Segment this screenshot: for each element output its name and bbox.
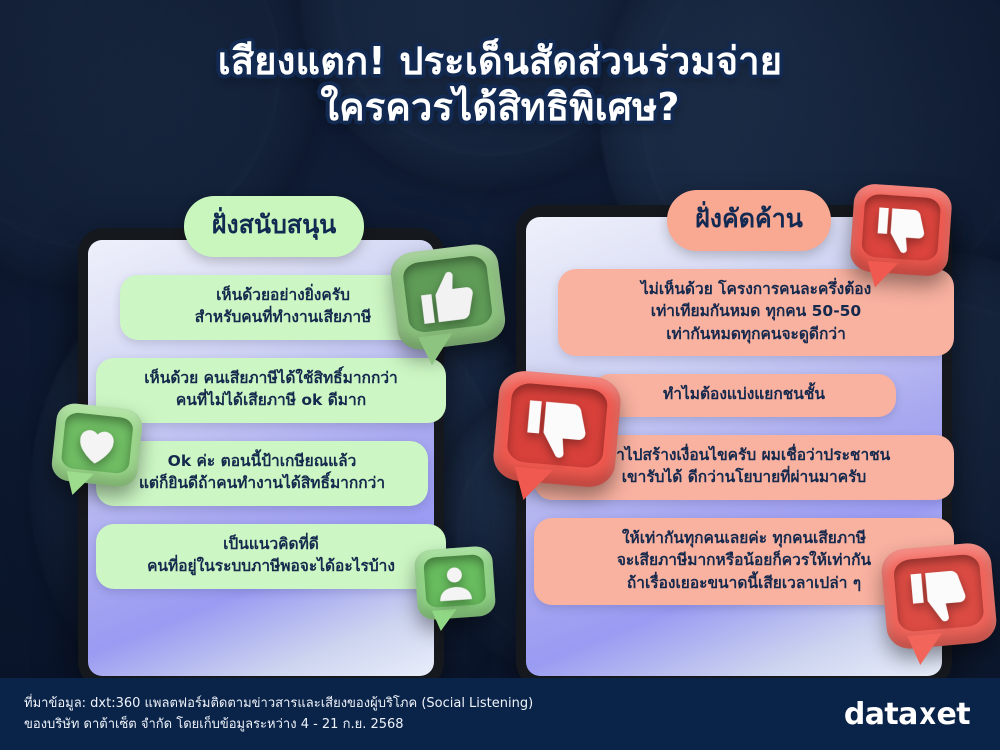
- footer-bar: ที่มาข้อมูล: dxt:360 แพลตฟอร์มติดตามข่าว…: [0, 678, 1000, 750]
- oppose-comment-1: ไม่เห็นด้วย โครงการคนละครึ่งต้องเท่าเทีย…: [558, 269, 954, 356]
- logo-text-before: data: [844, 697, 918, 732]
- source-credit: ที่มาข้อมูล: dxt:360 แพลตฟอร์มติดตามข่าว…: [24, 693, 533, 736]
- thumbs-up-icon: [388, 242, 507, 352]
- source-credit-line-2: ของบริษัท ดาต้าเซ็ต จำกัด โดยเก็บข้อมูลร…: [24, 714, 533, 735]
- support-comment-3: Ok ค่ะ ตอนนี้ป้าเกษียณแล้วแต่ก็ยินดีถ้าค…: [96, 441, 428, 506]
- oppose-side-heading: ฝั่งคัดค้าน: [667, 190, 831, 251]
- oppose-comment-2: ทำไมต้องแบ่งแยกชนชั้น: [592, 374, 896, 416]
- support-side-heading: ฝั่งสนับสนุน: [184, 196, 365, 257]
- thumbs-down-icon: [880, 541, 998, 650]
- page-title: เสียงแตก! ประเด็นสัดส่วนร่วมจ่าย ใครควรไ…: [0, 38, 1000, 131]
- title-line-1: เสียงแตก! ประเด็นสัดส่วนร่วมจ่าย: [0, 38, 1000, 84]
- support-comment-2: เห็นด้วย คนเสียภาษีได้ใช้สิทธิ์มากกว่าคน…: [96, 358, 446, 423]
- logo-text-after: et: [937, 697, 971, 732]
- logo-x-mark: x: [919, 697, 935, 732]
- support-comment-4: เป็นแนวคิดที่ดีคนที่อยู่ในระบบภาษีพอจะได…: [96, 524, 446, 589]
- thumbs-down-icon: [491, 369, 622, 489]
- source-credit-line-1: ที่มาข้อมูล: dxt:360 แพลตฟอร์มติดตามข่าว…: [24, 693, 533, 714]
- heart-icon: [50, 402, 144, 489]
- thumbs-down-icon: [849, 183, 953, 278]
- title-line-2: ใครควรได้สิทธิพิเศษ?: [0, 84, 1000, 130]
- dataxet-logo: dataxet: [844, 697, 976, 732]
- person-icon: [414, 545, 497, 620]
